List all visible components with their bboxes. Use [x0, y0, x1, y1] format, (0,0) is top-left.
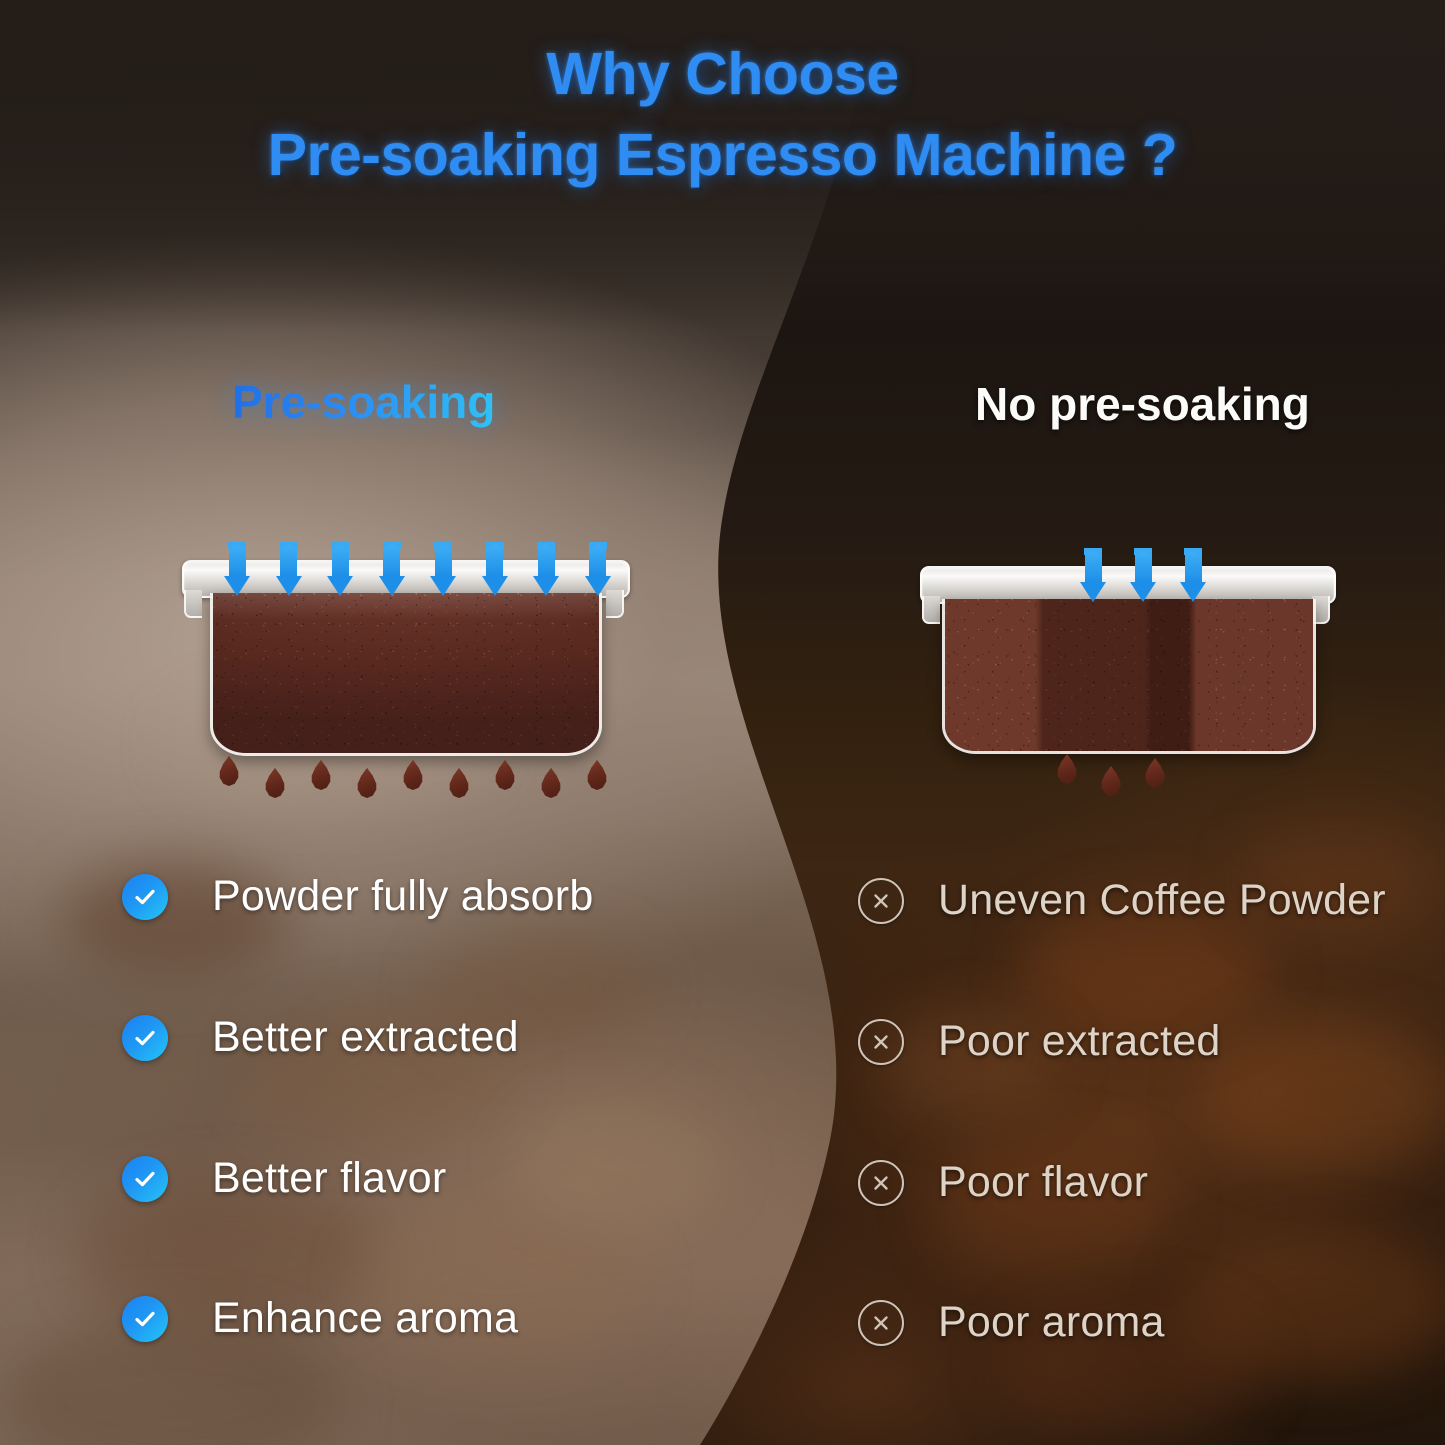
water-flow-arrow	[1080, 548, 1106, 602]
check-circle-icon	[122, 1015, 168, 1061]
infographic-canvas: Why Choose Pre-soaking Espresso Machine …	[0, 0, 1445, 1445]
water-flow-arrow	[276, 542, 302, 596]
basket-rim-ear-left	[922, 596, 940, 624]
water-flow-arrow	[585, 542, 611, 596]
list-item: Poor aroma	[858, 1298, 1165, 1347]
list-item-label: Powder fully absorb	[212, 872, 593, 921]
x-circle-icon	[858, 1300, 904, 1346]
check-circle-icon	[122, 874, 168, 920]
list-item-label: Uneven Coffee Powder	[938, 876, 1386, 925]
x-circle-icon	[858, 1160, 904, 1206]
page-title: Why Choose Pre-soaking Espresso Machine …	[0, 34, 1445, 197]
water-flow-arrow	[224, 542, 250, 596]
water-flow-arrow	[1180, 548, 1206, 602]
list-item-label: Poor flavor	[938, 1158, 1148, 1207]
check-circle-icon	[122, 1156, 168, 1202]
list-item: Powder fully absorb	[122, 872, 593, 921]
list-item: Poor extracted	[858, 1017, 1220, 1066]
water-flow-arrow	[482, 542, 508, 596]
bokeh-blob	[1200, 1020, 1445, 1170]
list-item-label: Poor aroma	[938, 1298, 1165, 1347]
water-flow-arrow	[430, 542, 456, 596]
bokeh-blob	[520, 1100, 720, 1220]
list-item-label: Better flavor	[212, 1154, 446, 1203]
page-title-line-1: Why Choose	[546, 41, 898, 107]
column-heading-no-pre-soaking: No pre-soaking	[975, 377, 1310, 431]
grounds-texture	[210, 593, 602, 756]
list-item: Better flavor	[122, 1154, 446, 1203]
list-item: Poor flavor	[858, 1158, 1148, 1207]
basket-rim-ear-left	[184, 590, 202, 618]
coffee-grounds-even	[210, 593, 602, 756]
x-circle-icon	[858, 878, 904, 924]
water-flow-arrow	[1130, 548, 1156, 602]
grounds-texture	[942, 599, 1316, 754]
check-circle-icon	[122, 1296, 168, 1342]
list-item: Uneven Coffee Powder	[858, 876, 1386, 925]
water-flow-arrow	[327, 542, 353, 596]
coffee-grounds-uneven	[942, 599, 1316, 754]
list-item-label: Poor extracted	[938, 1017, 1220, 1066]
column-heading-pre-soaking: Pre-soaking	[232, 375, 495, 429]
water-flow-arrow	[533, 542, 559, 596]
list-item: Better extracted	[122, 1013, 519, 1062]
basket-wall	[942, 599, 1316, 754]
list-item: Enhance aroma	[122, 1294, 518, 1343]
list-item-label: Better extracted	[212, 1013, 519, 1062]
page-title-line-2: Pre-soaking Espresso Machine ?	[0, 115, 1445, 196]
water-flow-arrow	[379, 542, 405, 596]
list-item-label: Enhance aroma	[212, 1294, 518, 1343]
x-circle-icon	[858, 1019, 904, 1065]
basket-wall	[210, 593, 602, 756]
